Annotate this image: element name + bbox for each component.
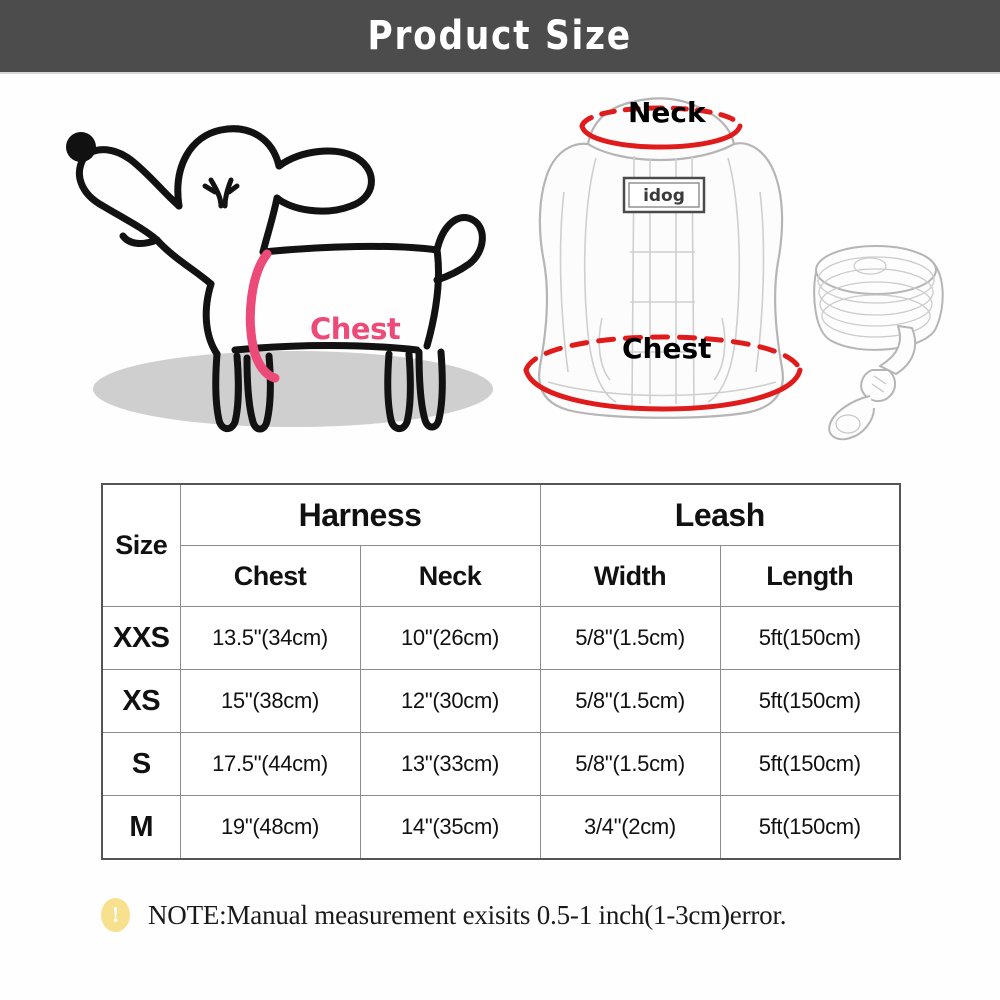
row-length-value: 5ft(150cm): [720, 607, 900, 670]
row-size-label: M: [102, 796, 180, 860]
row-width-value: 5/8"(1.5cm): [540, 670, 720, 733]
row-width-value: 3/4"(2cm): [540, 796, 720, 860]
harness-brand-text: idog: [643, 186, 685, 206]
size-table-container: Size Harness Leash Chest Neck Width Leng…: [101, 483, 899, 860]
dog-line-drawing-svg: [45, 94, 535, 464]
harness-illustration: idog Neck Chest: [510, 82, 830, 452]
table-header-chest: Chest: [180, 546, 360, 607]
row-neck-value: 14"(35cm): [360, 796, 540, 860]
table-header-width: Width: [540, 546, 720, 607]
note-row: ! NOTE:Manual measurement exisits 0.5-1 …: [101, 890, 901, 940]
dog-chest-front: [206, 284, 217, 354]
dog-back: [263, 246, 437, 252]
dog-tail: [437, 218, 482, 280]
dog-eye: [205, 180, 237, 206]
dog-rear: [427, 250, 439, 346]
row-chest-value: 19"(48cm): [180, 796, 360, 860]
table-row: XXS 13.5"(34cm) 10"(26cm) 5/8"(1.5cm) 5f…: [102, 607, 900, 670]
exclamation-glyph: !: [112, 904, 119, 926]
row-length-value: 5ft(150cm): [720, 796, 900, 860]
row-size-label: S: [102, 733, 180, 796]
table-header-length: Length: [720, 546, 900, 607]
dog-illustration: Chest: [45, 94, 535, 464]
page-header-bar: Product Size: [0, 0, 1000, 74]
leash-svg: [800, 224, 960, 444]
row-length-value: 5ft(150cm): [720, 670, 900, 733]
row-neck-value: 13"(33cm): [360, 733, 540, 796]
dog-jaw: [85, 150, 179, 206]
row-chest-value: 13.5"(34cm): [180, 607, 360, 670]
product-size-page: Product Size: [0, 0, 1000, 1000]
dog-cheek: [157, 240, 211, 284]
row-size-label: XXS: [102, 607, 180, 670]
table-header-harness: Harness: [180, 484, 540, 546]
size-table: Size Harness Leash Chest Neck Width Leng…: [101, 483, 901, 860]
harness-brand-patch: idog: [624, 178, 704, 212]
row-length-value: 5ft(150cm): [720, 733, 900, 796]
dog-belly: [235, 346, 417, 351]
row-width-value: 5/8"(1.5cm): [540, 607, 720, 670]
table-row: XS 15"(38cm) 12"(30cm) 5/8"(1.5cm) 5ft(1…: [102, 670, 900, 733]
dog-ear: [277, 151, 371, 211]
harness-neck-label: Neck: [628, 96, 706, 129]
exclamation-icon: !: [101, 898, 130, 932]
table-header-size: Size: [102, 484, 180, 607]
row-size-label: XS: [102, 670, 180, 733]
row-chest-value: 17.5"(44cm): [180, 733, 360, 796]
dog-shadow: [93, 351, 493, 427]
table-header-row-subs: Chest Neck Width Length: [102, 546, 900, 607]
row-width-value: 5/8"(1.5cm): [540, 733, 720, 796]
harness-chest-label: Chest: [622, 332, 712, 365]
row-neck-value: 12"(30cm): [360, 670, 540, 733]
illustration-area: Chest: [0, 74, 1000, 474]
leash-coil-top: [816, 246, 936, 294]
table-row: M 19"(48cm) 14"(35cm) 3/4"(2cm) 5ft(150c…: [102, 796, 900, 860]
dog-nose: [66, 132, 96, 162]
harness-vest-svg: idog: [510, 82, 830, 452]
dog-chest-label: Chest: [310, 312, 400, 346]
leash-illustration: [800, 224, 960, 444]
row-neck-value: 10"(26cm): [360, 607, 540, 670]
table-header-row-groups: Size Harness Leash: [102, 484, 900, 546]
note-text: NOTE:Manual measurement exisits 0.5-1 in…: [148, 900, 786, 931]
table-row: S 17.5"(44cm) 13"(33cm) 5/8"(1.5cm) 5ft(…: [102, 733, 900, 796]
row-chest-value: 15"(38cm): [180, 670, 360, 733]
table-header-neck: Neck: [360, 546, 540, 607]
page-title: Product Size: [368, 13, 632, 59]
dog-neck-back: [263, 198, 277, 252]
table-header-leash: Leash: [540, 484, 900, 546]
